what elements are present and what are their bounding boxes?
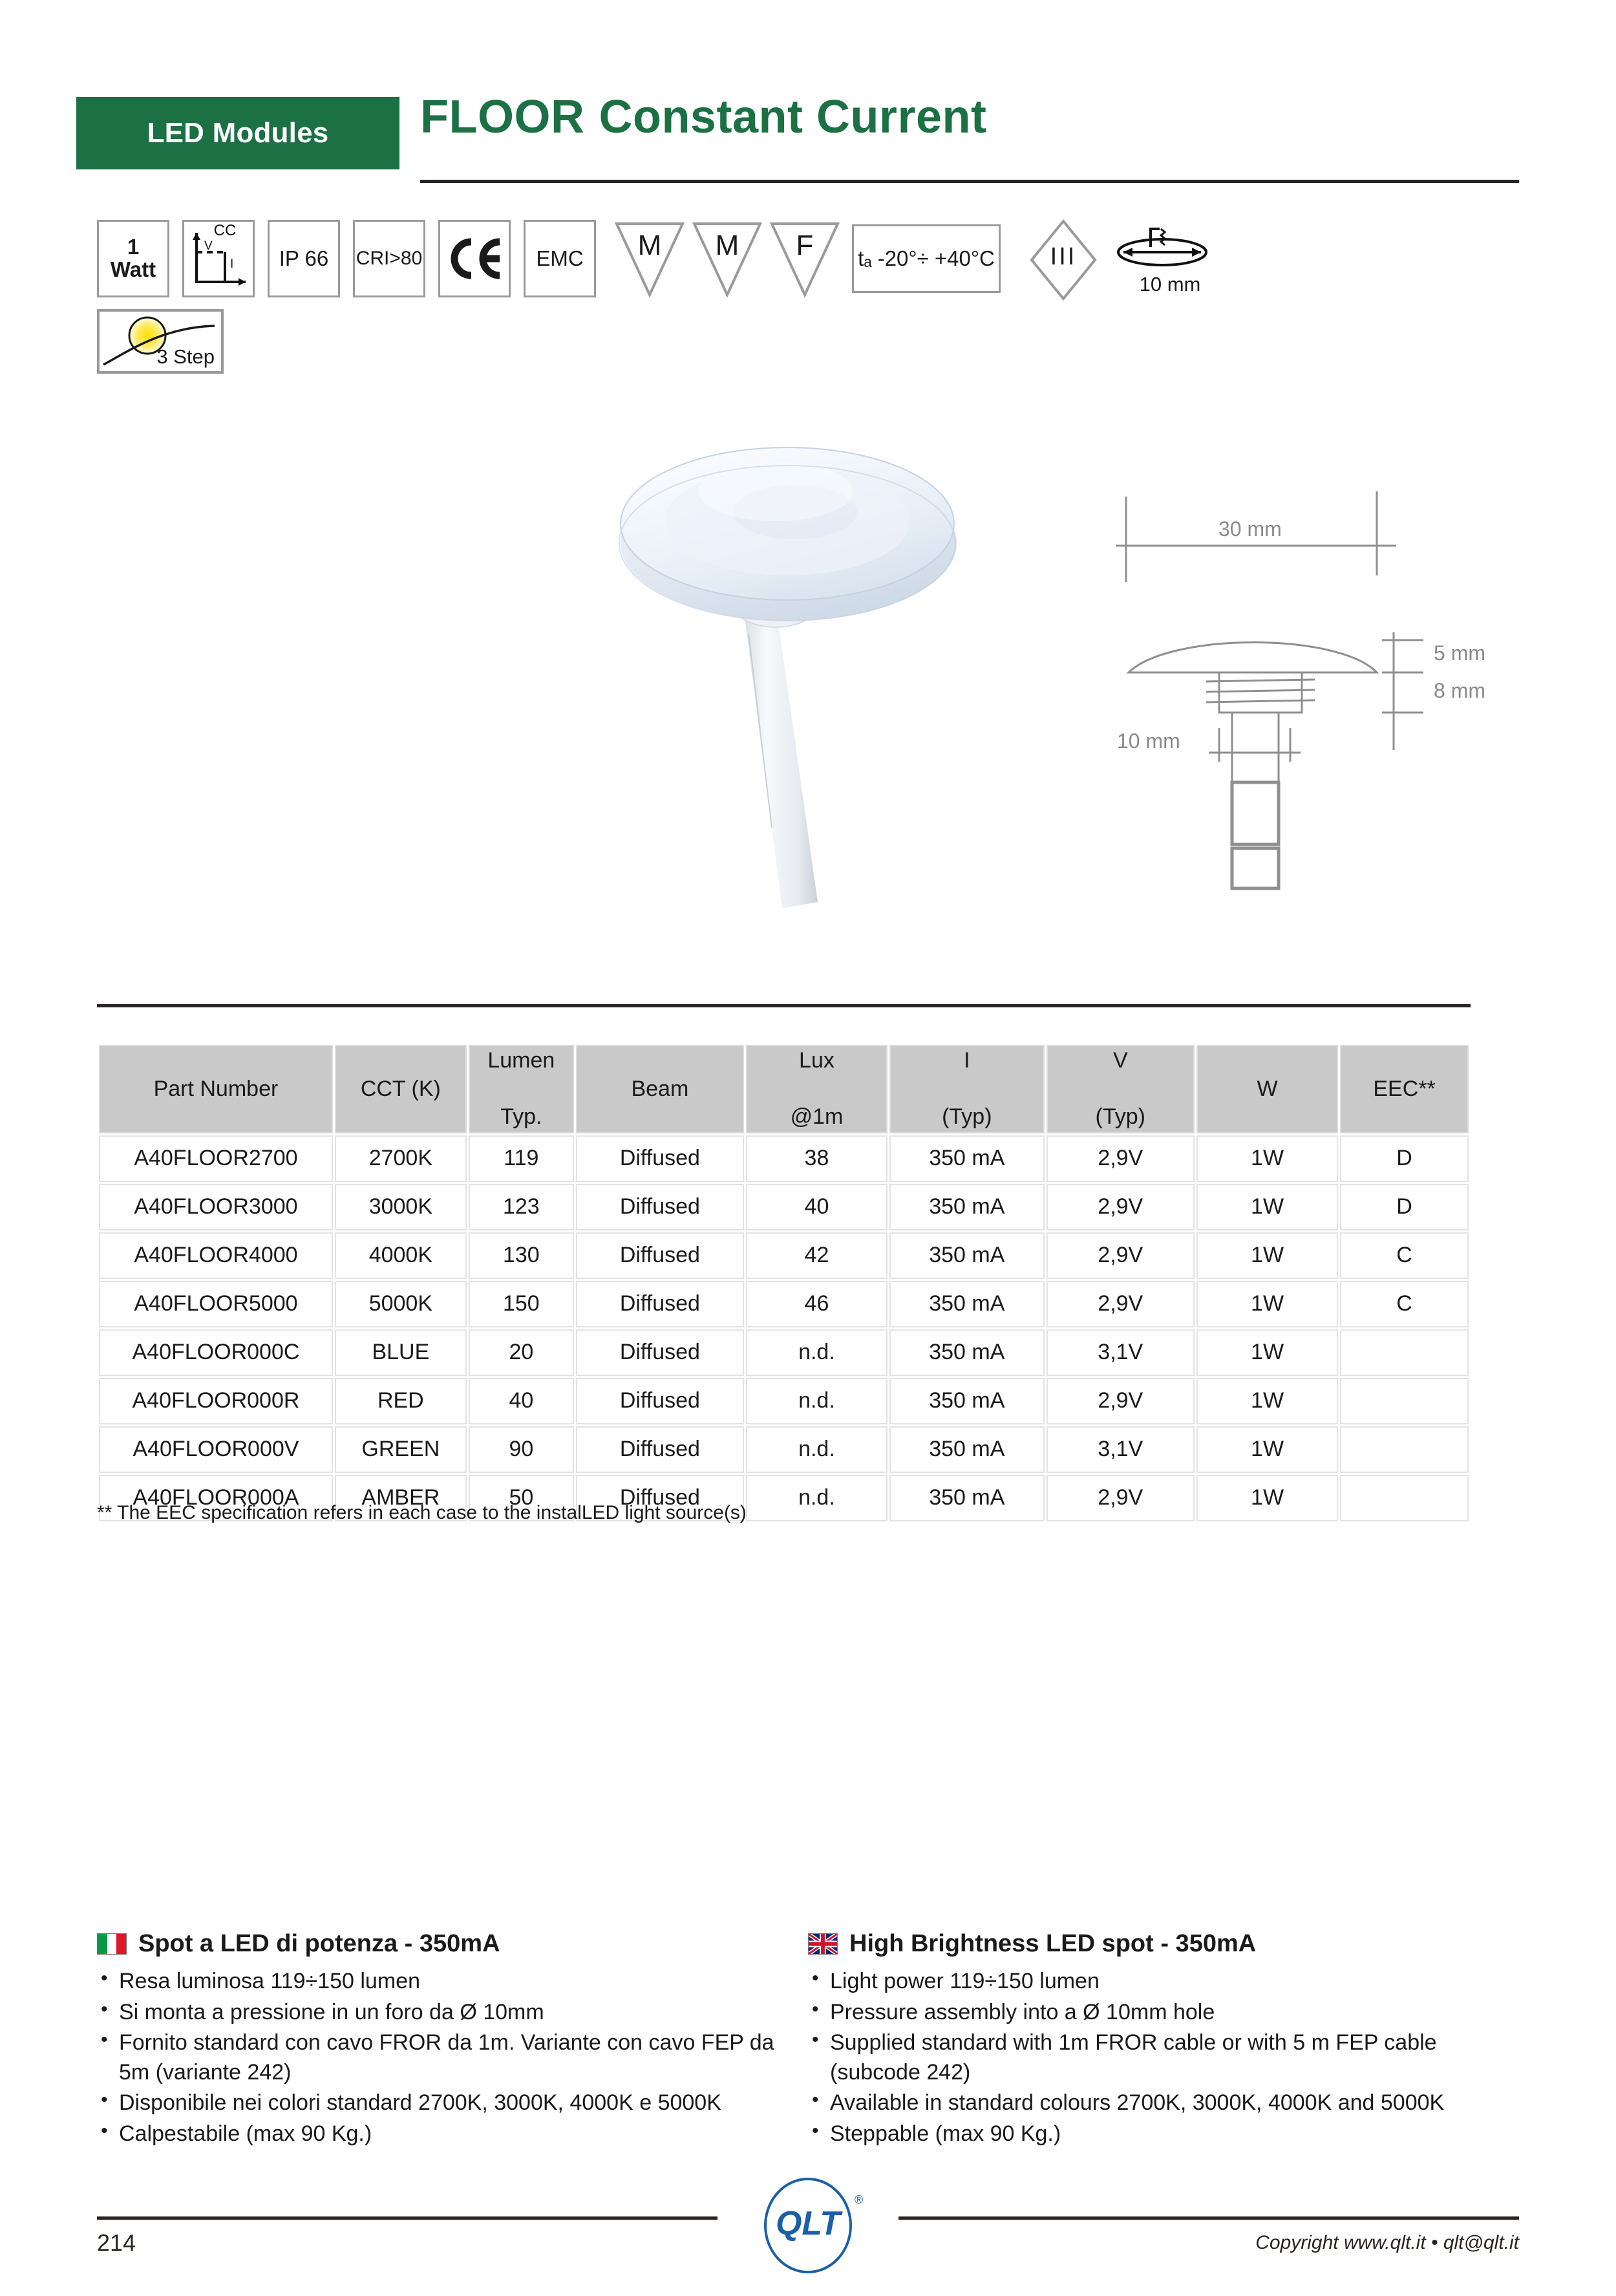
list-item: Steppable (max 90 Kg.) [808, 2119, 1493, 2149]
table-cell: 1W [1196, 1378, 1338, 1424]
table-cell [1340, 1378, 1469, 1424]
table-cell: A40FLOOR000R [99, 1378, 333, 1424]
table-cell: 350 mA [889, 1426, 1045, 1473]
table-row: A40FLOOR000CBLUE20Diffusedn.d.350 mA3,1V… [99, 1329, 1469, 1376]
table-cell: 90 [469, 1426, 574, 1473]
emc-label: EMC [536, 248, 583, 270]
page-title: FLOORConstant Current [420, 91, 986, 144]
table-column-header: I(Typ) [889, 1045, 1045, 1133]
table-row: A40FLOOR27002700K119Diffused38350 mA2,9V… [99, 1135, 1469, 1182]
table-cell [1340, 1475, 1469, 1521]
table-cell [1340, 1329, 1469, 1376]
table-cell: 5000K [335, 1281, 467, 1327]
svg-text:CC: CC [214, 222, 237, 239]
table-cell: 3,1V [1047, 1329, 1195, 1376]
table-cell: 3,1V [1047, 1426, 1195, 1473]
table-cell: 3000K [335, 1184, 467, 1230]
table-column-header: Part Number [99, 1045, 333, 1133]
table-cell: 350 mA [889, 1475, 1045, 1521]
qlt-logo: QLT ® [718, 2178, 898, 2275]
qlt-logo-icon: QLT ® [718, 2178, 898, 2275]
table-cell: Diffused [576, 1378, 744, 1424]
title-divider [420, 180, 1519, 183]
table-cell: 2,9V [1047, 1135, 1195, 1182]
table-cell: Diffused [576, 1135, 744, 1182]
ce-mark-icon [438, 220, 511, 297]
table-cell: 2,9V [1047, 1475, 1195, 1521]
table-column-header: EEC** [1340, 1045, 1469, 1133]
mounting-surface-f-icon: F [769, 220, 840, 297]
constant-current-icon: CC V I [182, 220, 255, 297]
page-title-product: FLOOR [420, 91, 584, 143]
ip-rating-icon: IP 66 [268, 220, 340, 297]
table-cell: 1W [1196, 1426, 1338, 1473]
drawing-dim-stem: 10 mm [1117, 729, 1180, 753]
power-value: 1 [127, 235, 139, 259]
table-cell: n.d. [746, 1475, 888, 1521]
table-cell: 2,9V [1047, 1184, 1195, 1230]
list-item: Available in standard colours 2700K, 300… [808, 2088, 1493, 2118]
table-row: A40FLOOR000RRED40Diffusedn.d.350 mA2,9V1… [99, 1378, 1469, 1424]
table-cell: A40FLOOR000V [99, 1426, 333, 1473]
table-column-header: V(Typ) [1047, 1045, 1195, 1133]
table-cell: Diffused [576, 1184, 744, 1230]
protection-class-icon: III [1028, 219, 1099, 301]
table-cell: Diffused [576, 1426, 744, 1473]
hole-diameter-label: 10 mm [1112, 273, 1228, 296]
description-block-italian: Spot a LED di potenza - 350mA Resa lumin… [97, 1930, 782, 2150]
table-cell: 1W [1196, 1281, 1338, 1327]
union-jack-icon [809, 1934, 837, 1954]
triangle-label-2: M [692, 231, 763, 260]
section-badge-label: LED Modules [147, 117, 329, 149]
table-cell: 2,9V [1047, 1281, 1195, 1327]
table-cell: 1W [1196, 1232, 1338, 1279]
table-column-header: Lux@1m [746, 1045, 888, 1133]
table-row: A40FLOOR40004000K130Diffused42350 mA2,9V… [99, 1232, 1469, 1279]
table-cell: D [1340, 1135, 1469, 1182]
table-cell: 2,9V [1047, 1378, 1195, 1424]
table-cell: 350 mA [889, 1329, 1045, 1376]
table-row: A40FLOOR30003000K123Diffused40350 mA2,9V… [99, 1184, 1469, 1230]
macadam-step-icon: 3 Step [97, 309, 224, 374]
table-column-header: W [1196, 1045, 1338, 1133]
table-cell: 1W [1196, 1475, 1338, 1521]
list-item: Si monta a pressione in un foro da Ø 10m… [97, 1998, 782, 2028]
italian-flag-icon [97, 1933, 127, 1955]
table-cell: D [1340, 1184, 1469, 1230]
table-cell: 20 [469, 1329, 574, 1376]
table-cell: Diffused [576, 1329, 744, 1376]
table-cell: 350 mA [889, 1184, 1045, 1230]
table-cell: 40 [469, 1378, 574, 1424]
cri-label: CRI>80 [356, 248, 423, 269]
mounting-surface-m-icon-1: M [614, 220, 685, 297]
specification-table: Part NumberCCT (K)LumenTyp.BeamLux@1mI(T… [97, 1043, 1471, 1523]
list-item: Pressure assembly into a Ø 10mm hole [808, 1998, 1493, 2028]
power-unit: Watt [111, 257, 156, 281]
table-column-header: CCT (K) [335, 1045, 467, 1133]
footer-divider-left [97, 2216, 718, 2220]
cri-icon: CRI>80 [353, 220, 425, 297]
drawing-dim-dome: 5 mm [1434, 641, 1485, 665]
svg-text:QLT: QLT [776, 2205, 843, 2242]
drawing-dim-body: 8 mm [1434, 679, 1485, 703]
drawing-dim-width: 30 mm [1218, 517, 1282, 541]
table-cell: n.d. [746, 1329, 888, 1376]
triangle-label-3: F [769, 231, 840, 260]
section-badge-led-modules: LED Modules [76, 97, 399, 169]
table-cell [1340, 1426, 1469, 1473]
table-cell: C [1340, 1281, 1469, 1327]
table-cell: BLUE [335, 1329, 467, 1376]
ambient-temperature-icon: tₐ -20°÷ +40°C [852, 224, 1001, 293]
table-cell: 1W [1196, 1184, 1338, 1230]
list-item: Supplied standard with 1m FROR cable or … [808, 2028, 1493, 2087]
power-icon: 1Watt [97, 220, 169, 297]
table-cell: n.d. [746, 1378, 888, 1424]
table-row: A40FLOOR50005000K150Diffused46350 mA2,9V… [99, 1281, 1469, 1327]
table-cell: 130 [469, 1232, 574, 1279]
table-cell: A40FLOOR4000 [99, 1232, 333, 1279]
svg-text:I: I [230, 257, 233, 271]
table-cell: 123 [469, 1184, 574, 1230]
table-top-divider [97, 1004, 1471, 1007]
table-cell: A40FLOOR000C [99, 1329, 333, 1376]
table-cell: 350 mA [889, 1232, 1045, 1279]
table-column-header: Beam [576, 1045, 744, 1133]
italian-bullet-list: Resa luminosa 119÷150 lumenSi monta a pr… [97, 1967, 782, 2149]
list-item: Calpestabile (max 90 Kg.) [97, 2119, 782, 2149]
mounting-surface-m-icon-2: M [692, 220, 763, 297]
table-row: A40FLOOR000VGREEN90Diffusedn.d.350 mA3,1… [99, 1426, 1469, 1473]
table-cell: 46 [746, 1281, 888, 1327]
uk-flag-icon [808, 1933, 838, 1955]
table-cell: 1W [1196, 1135, 1338, 1182]
ip-rating-label: IP 66 [279, 248, 328, 270]
table-cell: GREEN [335, 1426, 467, 1473]
english-title: High Brightness LED spot - 350mA [849, 1930, 1256, 1958]
macadam-step-label: 3 Step [156, 345, 215, 369]
triangle-label-1: M [614, 231, 685, 260]
table-cell: 119 [469, 1135, 574, 1182]
product-photo [582, 330, 995, 918]
table-cell: 4000K [335, 1232, 467, 1279]
table-cell: 40 [746, 1184, 888, 1230]
table-cell: 2,9V [1047, 1232, 1195, 1279]
table-cell: 1W [1196, 1329, 1338, 1376]
table-cell: 350 mA [889, 1378, 1045, 1424]
copyright-text: Copyright www.qlt.it • qlt@qlt.it [1255, 2232, 1519, 2254]
temperature-range-label: tₐ -20°÷ +40°C [858, 248, 995, 270]
ce-glyph-icon [445, 237, 504, 280]
table-footnote: ** The EEC specification refers in each … [97, 1502, 747, 1524]
product-illustration [582, 330, 995, 918]
emc-icon: EMC [524, 220, 596, 297]
page-title-variant: Constant Current [599, 91, 986, 143]
table-column-header: LumenTyp. [469, 1045, 574, 1133]
italian-title: Spot a LED di potenza - 350mA [138, 1930, 500, 1958]
english-bullet-list: Light power 119÷150 lumenPressure assemb… [808, 1967, 1493, 2149]
footer-divider-right [898, 2216, 1519, 2220]
list-item: Fornito standard con cavo FROR da 1m. Va… [97, 2028, 782, 2087]
list-item: Disponibile nei colori standard 2700K, 3… [97, 2088, 782, 2118]
table-cell: C [1340, 1232, 1469, 1279]
table-cell: 38 [746, 1135, 888, 1182]
table-cell: 2700K [335, 1135, 467, 1182]
page-number: 214 [97, 2229, 136, 2257]
table-header-row: Part NumberCCT (K)LumenTyp.BeamLux@1mI(T… [99, 1045, 1469, 1133]
table-cell: n.d. [746, 1426, 888, 1473]
table-cell: 350 mA [889, 1135, 1045, 1182]
table-cell: 350 mA [889, 1281, 1045, 1327]
hole-ellipse-icon [1112, 221, 1228, 274]
list-item: Resa luminosa 119÷150 lumen [97, 1967, 782, 1997]
protection-class-label: III [1028, 243, 1099, 271]
technical-drawing: 30 mm 5 mm 8 mm 10 mm [1092, 478, 1519, 905]
table-cell: A40FLOOR5000 [99, 1281, 333, 1327]
svg-text:V: V [204, 239, 213, 253]
table-cell: RED [335, 1378, 467, 1424]
description-block-english: High Brightness LED spot - 350mA Light p… [808, 1930, 1493, 2150]
table-cell: 150 [469, 1281, 574, 1327]
hole-diameter-icon: 10 mm [1112, 221, 1228, 305]
table-cell: 42 [746, 1232, 888, 1279]
cc-graph-icon: CC V I [185, 222, 252, 295]
svg-text:®: ® [855, 2193, 863, 2206]
table-cell: Diffused [576, 1232, 744, 1279]
table-cell: A40FLOOR2700 [99, 1135, 333, 1182]
table-cell: A40FLOOR3000 [99, 1184, 333, 1230]
table-cell: Diffused [576, 1281, 744, 1327]
list-item: Light power 119÷150 lumen [808, 1967, 1493, 1997]
